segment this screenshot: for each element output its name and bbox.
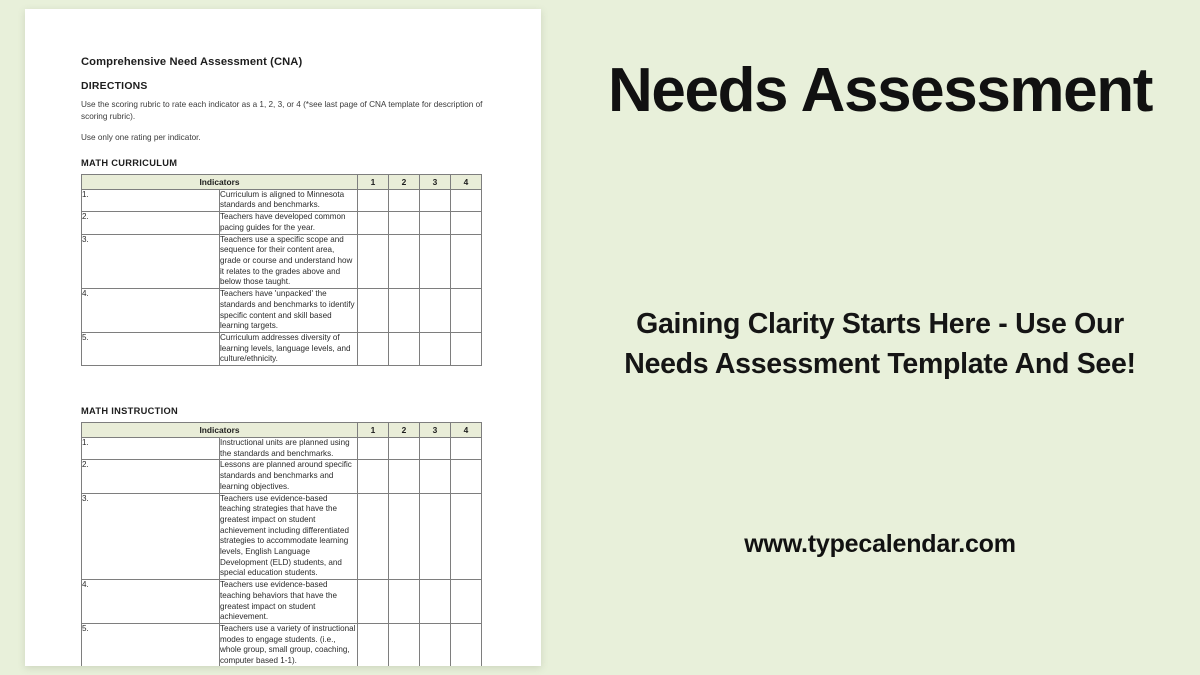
directions-heading: DIRECTIONS xyxy=(81,81,485,92)
table-row: 3. Teachers use a specific scope and seq… xyxy=(82,234,482,289)
rating-cell-1[interactable] xyxy=(358,493,389,580)
table-row: 1. Instructional units are planned using… xyxy=(82,438,482,460)
rating-cell-1[interactable] xyxy=(358,189,389,211)
column-header-rating-4: 4 xyxy=(451,174,482,189)
rating-cell-4[interactable] xyxy=(451,460,482,493)
rating-cell-3[interactable] xyxy=(420,212,451,234)
table-row: 1. Curriculum is aligned to Minnesota st… xyxy=(82,189,482,211)
row-number: 5. xyxy=(82,332,220,365)
slide-canvas: Comprehensive Need Assessment (CNA) DIRE… xyxy=(0,0,1200,675)
rating-cell-4[interactable] xyxy=(451,332,482,365)
rating-cell-2[interactable] xyxy=(389,580,420,624)
column-header-indicators: Indicators xyxy=(82,174,358,189)
column-header-indicators: Indicators xyxy=(82,423,358,438)
row-number: 3. xyxy=(82,493,220,580)
table-row: 3. Teachers use evidence-based teaching … xyxy=(82,493,482,580)
table-header-row: Indicators 1 2 3 4 xyxy=(82,174,482,189)
row-indicator-text: Teachers have developed common pacing gu… xyxy=(220,212,358,234)
row-number: 4. xyxy=(82,289,220,333)
table-row: 4. Teachers use evidence-based teaching … xyxy=(82,580,482,624)
promo-website-url[interactable]: www.typecalendar.com xyxy=(560,530,1200,559)
table-math-instruction: Indicators 1 2 3 4 1. Instructional unit… xyxy=(81,422,482,666)
promo-subtitle-line-1: Gaining Clarity Starts Here - Use Our xyxy=(570,304,1190,344)
rating-cell-2[interactable] xyxy=(389,289,420,333)
row-indicator-text: Lessons are planned around specific stan… xyxy=(220,460,358,493)
row-indicator-text: Teachers use a specific scope and sequen… xyxy=(220,234,358,289)
rating-cell-1[interactable] xyxy=(358,332,389,365)
promo-title: Needs Assessment xyxy=(560,55,1200,127)
rating-cell-2[interactable] xyxy=(389,189,420,211)
rating-cell-3[interactable] xyxy=(420,623,451,666)
rating-cell-3[interactable] xyxy=(420,289,451,333)
table-header-row: Indicators 1 2 3 4 xyxy=(82,423,482,438)
row-number: 4. xyxy=(82,580,220,624)
rating-cell-1[interactable] xyxy=(358,234,389,289)
table-row: 5. Curriculum addresses diversity of lea… xyxy=(82,332,482,365)
row-number: 2. xyxy=(82,460,220,493)
rating-cell-3[interactable] xyxy=(420,189,451,211)
rating-cell-4[interactable] xyxy=(451,212,482,234)
row-number: 3. xyxy=(82,234,220,289)
section-spacer xyxy=(81,366,485,392)
row-number: 5. xyxy=(82,623,220,666)
row-indicator-text: Teachers use evidence-based teaching str… xyxy=(220,493,358,580)
column-header-rating-1: 1 xyxy=(358,423,389,438)
table-row: 5. Teachers use a variety of instruction… xyxy=(82,623,482,666)
section-heading-math-curriculum: MATH CURRICULUM xyxy=(81,158,485,168)
promo-subtitle-line-2: Needs Assessment Template And See! xyxy=(570,344,1190,384)
row-number: 1. xyxy=(82,438,220,460)
row-indicator-text: Teachers use a variety of instructional … xyxy=(220,623,358,666)
rating-cell-4[interactable] xyxy=(451,493,482,580)
row-number: 2. xyxy=(82,212,220,234)
rating-cell-3[interactable] xyxy=(420,332,451,365)
row-indicator-text: Teachers have 'unpacked' the standards a… xyxy=(220,289,358,333)
rating-cell-4[interactable] xyxy=(451,234,482,289)
rating-cell-3[interactable] xyxy=(420,234,451,289)
rating-cell-1[interactable] xyxy=(358,438,389,460)
row-indicator-text: Instructional units are planned using th… xyxy=(220,438,358,460)
document-title: Comprehensive Need Assessment (CNA) xyxy=(81,56,485,68)
rating-cell-3[interactable] xyxy=(420,493,451,580)
table-math-curriculum: Indicators 1 2 3 4 1. Curriculum is alig… xyxy=(81,174,482,366)
rating-cell-2[interactable] xyxy=(389,212,420,234)
rating-cell-2[interactable] xyxy=(389,332,420,365)
rating-cell-3[interactable] xyxy=(420,460,451,493)
rating-cell-4[interactable] xyxy=(451,580,482,624)
rating-cell-3[interactable] xyxy=(420,438,451,460)
rating-cell-1[interactable] xyxy=(358,580,389,624)
table-row: 2. Teachers have developed common pacing… xyxy=(82,212,482,234)
promo-subtitle: Gaining Clarity Starts Here - Use Our Ne… xyxy=(570,304,1190,384)
rating-cell-1[interactable] xyxy=(358,289,389,333)
column-header-rating-2: 2 xyxy=(389,174,420,189)
rating-cell-4[interactable] xyxy=(451,289,482,333)
column-header-rating-1: 1 xyxy=(358,174,389,189)
rating-cell-4[interactable] xyxy=(451,189,482,211)
document-page-preview[interactable]: Comprehensive Need Assessment (CNA) DIRE… xyxy=(25,9,541,666)
document-content: Comprehensive Need Assessment (CNA) DIRE… xyxy=(81,56,485,666)
row-indicator-text: Curriculum addresses diversity of learni… xyxy=(220,332,358,365)
rating-cell-3[interactable] xyxy=(420,580,451,624)
rating-cell-4[interactable] xyxy=(451,438,482,460)
rating-cell-2[interactable] xyxy=(389,234,420,289)
section-heading-math-instruction: MATH INSTRUCTION xyxy=(81,406,485,416)
rating-cell-1[interactable] xyxy=(358,212,389,234)
row-indicator-text: Curriculum is aligned to Minnesota stand… xyxy=(220,189,358,211)
rating-cell-2[interactable] xyxy=(389,623,420,666)
table-row: 2. Lessons are planned around specific s… xyxy=(82,460,482,493)
rating-cell-2[interactable] xyxy=(389,438,420,460)
rating-cell-1[interactable] xyxy=(358,460,389,493)
column-header-rating-3: 3 xyxy=(420,174,451,189)
directions-paragraph-2: Use only one rating per indicator. xyxy=(81,132,485,144)
column-header-rating-2: 2 xyxy=(389,423,420,438)
rating-cell-2[interactable] xyxy=(389,493,420,580)
directions-paragraph-1: Use the scoring rubric to rate each indi… xyxy=(81,99,485,122)
rating-cell-1[interactable] xyxy=(358,623,389,666)
promo-panel: Needs Assessment Gaining Clarity Starts … xyxy=(560,0,1200,675)
table-row: 4. Teachers have 'unpacked' the standard… xyxy=(82,289,482,333)
column-header-rating-3: 3 xyxy=(420,423,451,438)
rating-cell-4[interactable] xyxy=(451,623,482,666)
row-indicator-text: Teachers use evidence-based teaching beh… xyxy=(220,580,358,624)
column-header-rating-4: 4 xyxy=(451,423,482,438)
rating-cell-2[interactable] xyxy=(389,460,420,493)
row-number: 1. xyxy=(82,189,220,211)
